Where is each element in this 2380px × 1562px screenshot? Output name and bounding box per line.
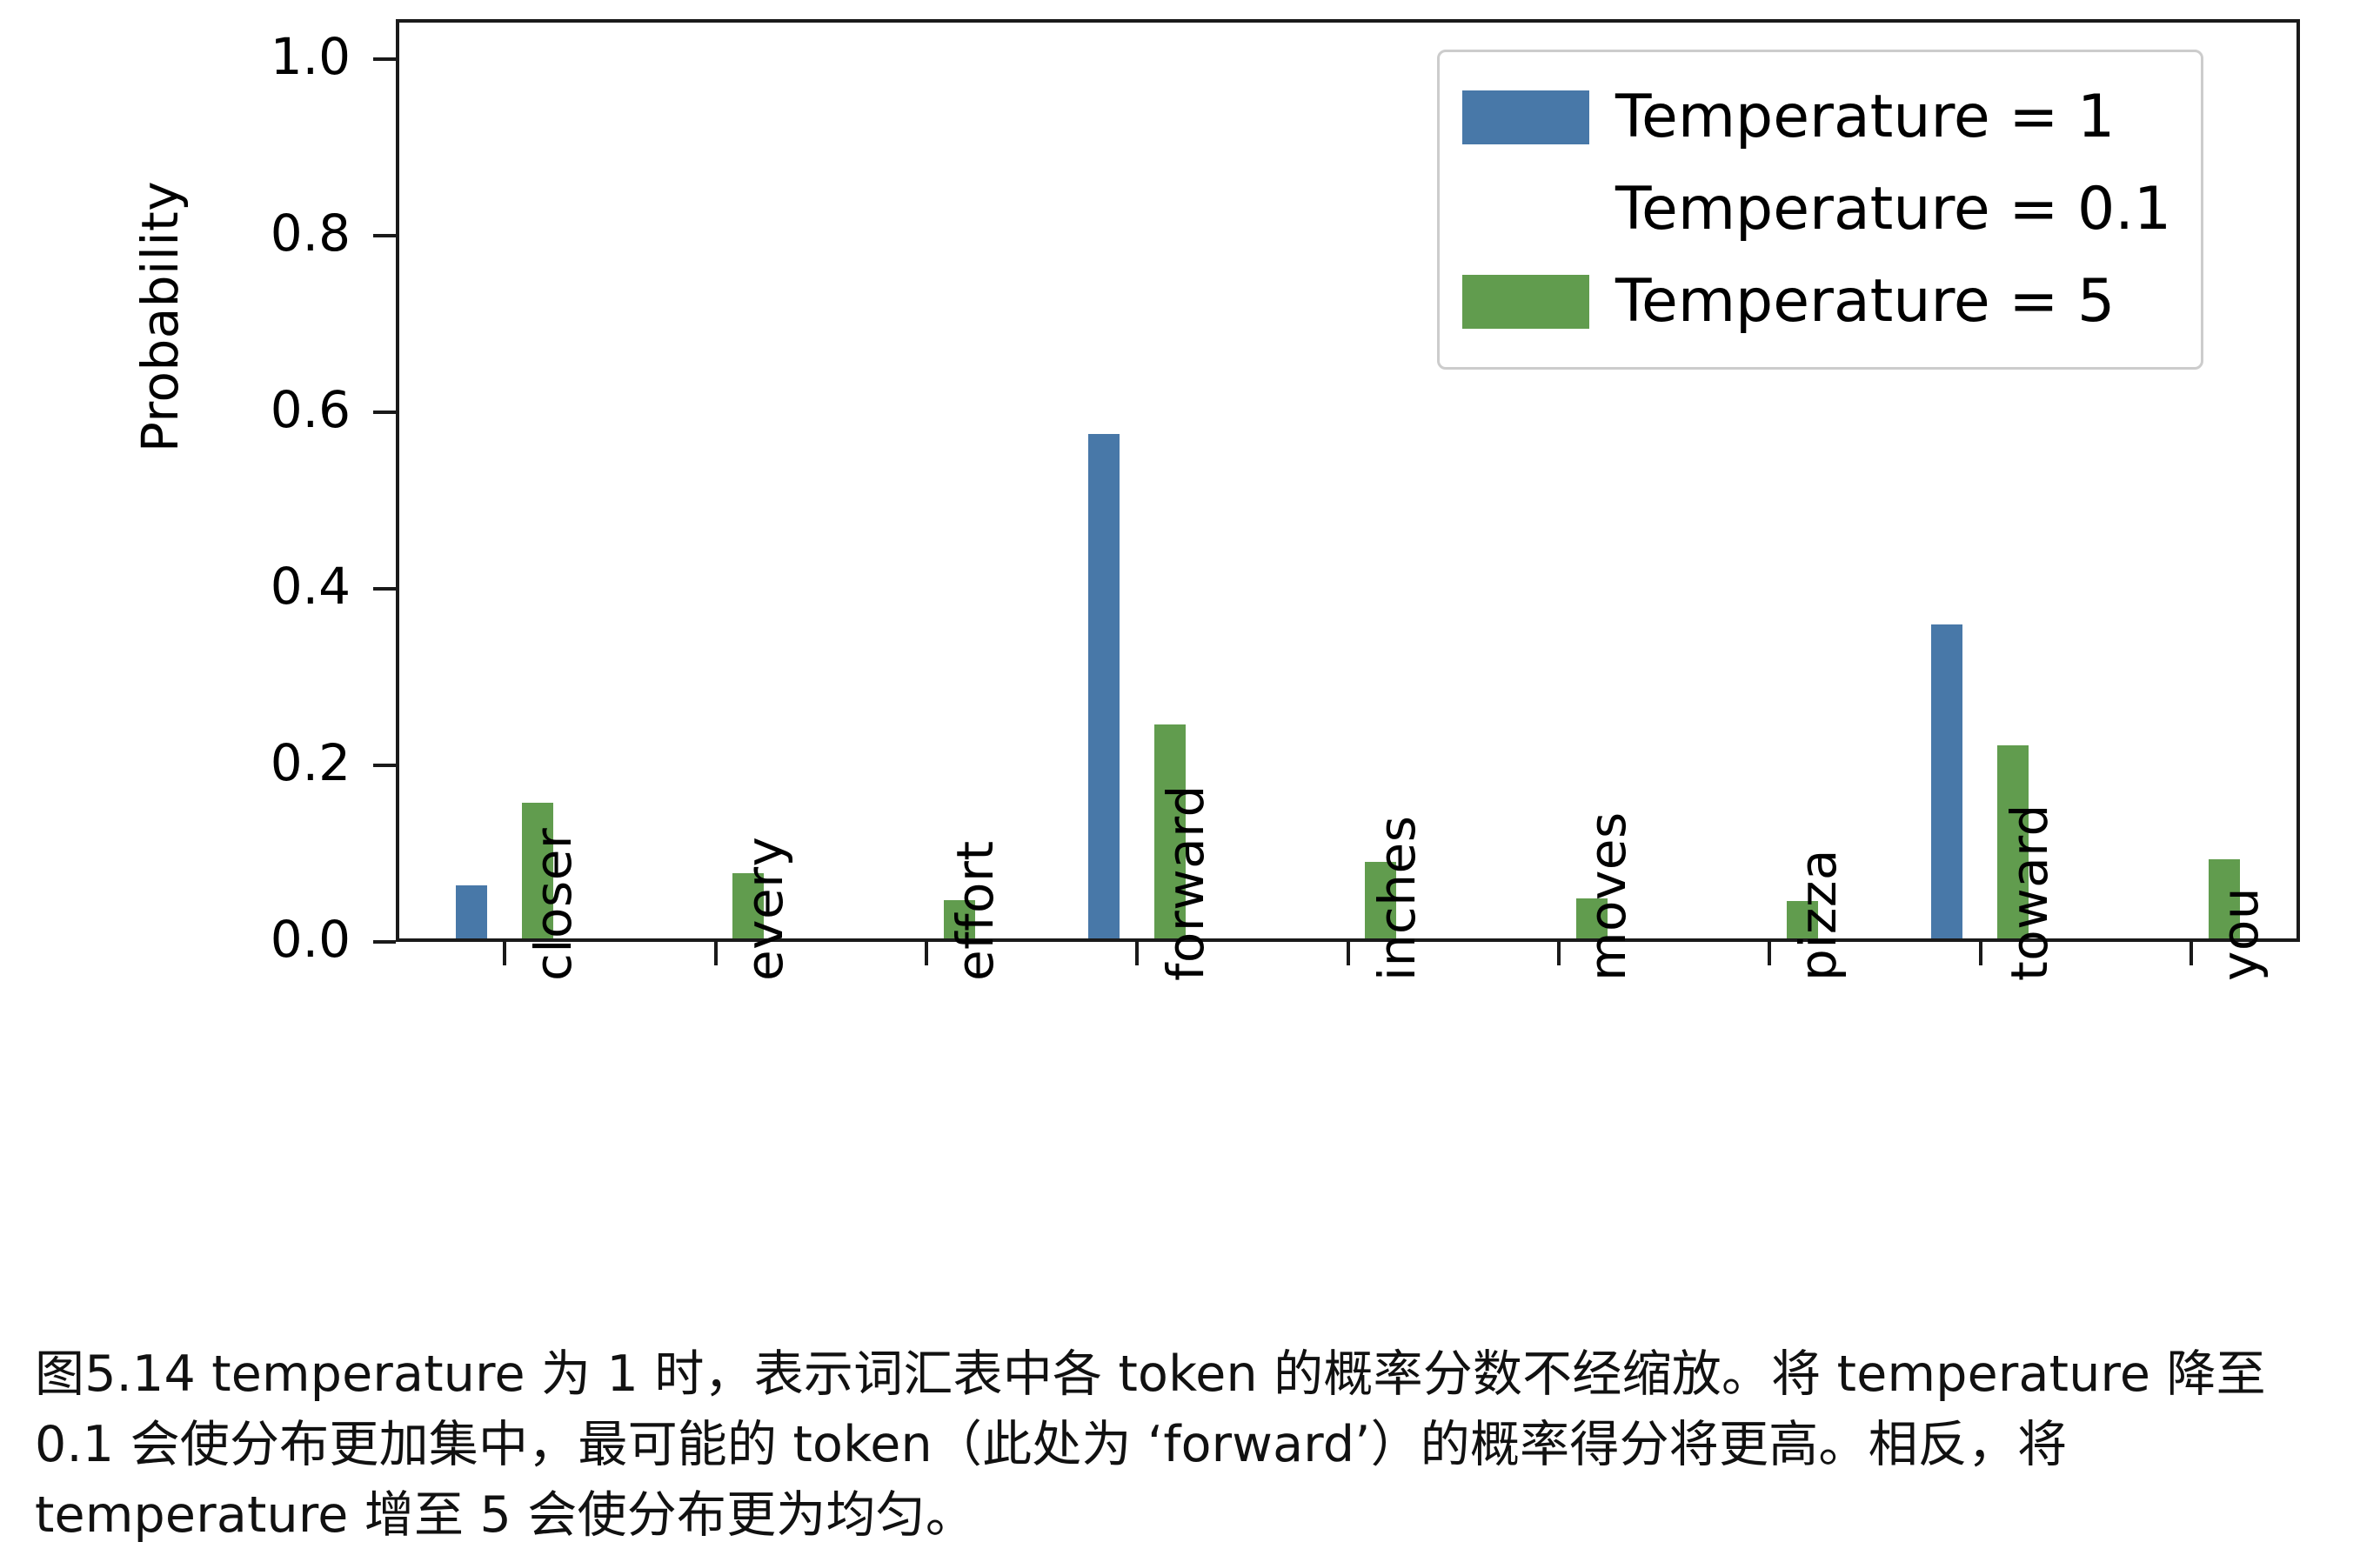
x-tick-label-every: every [735, 837, 794, 981]
y-tick-label: 1.0 [271, 27, 351, 86]
x-tick-mark [503, 942, 506, 965]
bar [1931, 624, 1962, 938]
figure-chart: Probability 0.00.20.40.60.81.0 closereve… [0, 0, 2380, 1305]
x-tick-label-moves: moves [1578, 811, 1637, 981]
legend-swatch [1462, 90, 1589, 144]
bar-group [821, 23, 1032, 938]
y-tick-mark [373, 587, 396, 591]
y-tick-label: 0.0 [271, 910, 351, 969]
figure-caption: 图5.14 temperature 为 1 时，表示词汇表中各 token 的概… [35, 1339, 2349, 1551]
bar-group [1242, 23, 1453, 938]
chart-legend: Temperature = 1Temperature = 0.1Temperat… [1437, 50, 2203, 370]
x-tick-mark [1135, 942, 1139, 965]
y-tick-mark [373, 57, 396, 61]
y-tick-label: 0.2 [271, 733, 351, 792]
x-tick-label-toward: toward [2000, 804, 2059, 981]
y-tick-label: 0.8 [271, 204, 351, 263]
legend-item: Temperature = 1 [1462, 71, 2171, 164]
y-tick-label: 0.6 [271, 380, 351, 439]
legend-item: Temperature = 0.1 [1462, 164, 2171, 256]
y-tick-mark [373, 764, 396, 767]
legend-label: Temperature = 1 [1615, 88, 2115, 147]
x-tick-label-you: you [2210, 887, 2270, 981]
x-tick-mark [714, 942, 718, 965]
legend-swatch [1462, 275, 1589, 329]
bar-group [399, 23, 610, 938]
bar [1121, 65, 1153, 938]
bar [456, 885, 487, 938]
y-tick-label: 0.4 [271, 557, 351, 616]
x-tick-label-forward: forward [1156, 784, 1215, 981]
bar [1088, 434, 1120, 938]
bar [1964, 931, 1996, 938]
legend-swatch [1462, 183, 1589, 237]
x-tick-mark [1557, 942, 1561, 965]
x-tick-mark [1768, 942, 1771, 965]
legend-item: Temperature = 5 [1462, 256, 2171, 348]
legend-label: Temperature = 5 [1615, 272, 2115, 331]
y-axis-title: Probability [130, 134, 190, 499]
x-tick-label-inches: inches [1367, 816, 1427, 981]
x-tick-mark [1347, 942, 1350, 965]
y-tick-mark [373, 411, 396, 414]
y-tick-mark [373, 940, 396, 944]
x-tick-label-closer: closer [524, 828, 583, 981]
x-tick-mark [2189, 942, 2193, 965]
x-tick-mark [925, 942, 928, 965]
caption-divider [0, 1301, 2380, 1303]
x-tick-label-pizza: pizza [1788, 849, 1848, 981]
bar-group [610, 23, 820, 938]
legend-label: Temperature = 0.1 [1615, 180, 2171, 239]
y-tick-mark [373, 234, 396, 237]
x-tick-mark [1979, 942, 1982, 965]
x-tick-label-effort: effort [946, 840, 1005, 981]
